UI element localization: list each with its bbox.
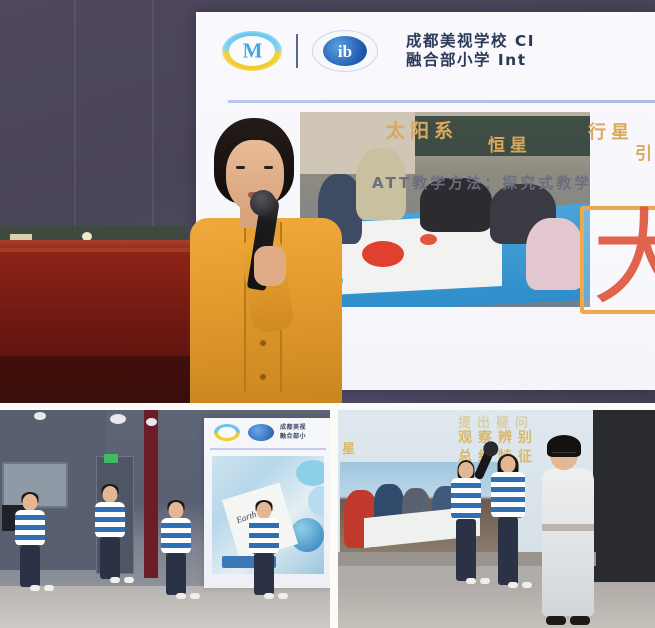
student-head: [257, 502, 272, 519]
bottom-right-photo-students-with-teacher: 提出疑问 观察辨别 总结特征 星: [338, 410, 655, 628]
school-name-line-2: 融合部小学 Int: [406, 51, 535, 70]
student-shoe: [124, 577, 134, 583]
student-shoe: [522, 582, 532, 588]
student-head: [23, 494, 38, 511]
screen-school-name: 成都美视 融合部小: [280, 423, 306, 441]
slide-teaching-method-line: ATT教学方法：探究式教学: [372, 172, 592, 193]
student-head: [459, 462, 474, 479]
student-shoe: [190, 593, 200, 599]
adult-figure-in-robe: [542, 438, 594, 628]
projection-side-word: 星: [342, 438, 361, 457]
poster-blob: [296, 460, 324, 486]
student-trousers: [456, 519, 476, 581]
student-trousers: [166, 553, 186, 595]
slide-keyword-star: 恒星: [488, 131, 532, 156]
main-photo-teacher-presenting: M ib 成都美视学校 CI 融合部小学 Int: [0, 0, 655, 403]
adult-shoe: [546, 616, 566, 625]
student-striped-polo: [15, 510, 45, 546]
slide-keyword-gravity: 引: [635, 139, 655, 164]
student-shoe: [264, 593, 274, 599]
bottom-left-photo-four-students: 成都美视 融合部小 Earth: [0, 410, 330, 628]
student-shoe: [466, 578, 476, 584]
collage-vertical-gutter: [330, 410, 338, 628]
classroom-student: [526, 218, 584, 290]
school-m-logo-icon: [214, 424, 240, 441]
slide-header-divider: [228, 100, 655, 103]
student-shoe: [508, 582, 518, 588]
slide-keyword-planet: 行星: [588, 118, 634, 144]
ceiling-light-icon: [110, 414, 126, 424]
jacket-button: [260, 340, 266, 346]
student-trousers: [20, 545, 40, 587]
student-head: [103, 486, 118, 503]
school-m-logo-letter: M: [222, 39, 282, 64]
ceiling-light-icon: [34, 412, 46, 420]
collage-horizontal-gutter: [0, 403, 655, 410]
screen-school-name-line-1: 成都美视: [280, 423, 306, 432]
slide-keyword-solar-system: 太阳系: [386, 116, 458, 143]
student-shoe: [30, 585, 40, 591]
ib-logo-icon: [248, 424, 274, 441]
speaker-hand: [254, 246, 286, 286]
student-striped-polo: [249, 518, 279, 554]
slide-big-character: 大: [592, 208, 655, 308]
projection-line-observe: 观察辨别: [458, 427, 538, 447]
drawing-planet-circle: [420, 234, 437, 245]
student-shoe: [44, 585, 54, 591]
slide-school-name: 成都美视学校 CI 融合部小学 Int: [406, 32, 535, 70]
stage-floor: [338, 582, 655, 628]
school-name-line-1: 成都美视学校 CI: [406, 32, 535, 51]
speaker-figure: [188, 118, 348, 403]
student-trousers: [100, 537, 120, 579]
school-m-logo-icon: M: [222, 31, 282, 71]
student-shoe: [110, 577, 120, 583]
slide-header: M ib 成都美视学校 CI 融合部小学 Int: [222, 20, 655, 82]
student-trousers: [498, 517, 518, 585]
photo-collage: M ib 成都美视学校 CI 融合部小学 Int: [0, 0, 655, 628]
student-head: [501, 456, 516, 473]
adult-robe: [542, 468, 594, 616]
adult-belt: [542, 524, 594, 531]
student-shoe: [278, 593, 288, 599]
logo-divider: [296, 34, 298, 68]
speaker-eye: [264, 166, 273, 169]
adult-shoe: [570, 616, 590, 625]
student-shoe: [176, 593, 186, 599]
ib-logo-icon: ib: [312, 30, 378, 72]
screen-school-name-line-2: 融合部小: [280, 432, 306, 441]
student-striped-polo: [161, 518, 191, 554]
ib-logo-letter: ib: [313, 42, 377, 62]
poster-blob: [308, 486, 324, 516]
student-striped-polo: [491, 472, 525, 518]
slide-footer-text: · · · ·: [500, 378, 573, 391]
student-head: [169, 502, 184, 519]
eyeglasses-icon: [552, 452, 576, 458]
ceiling-light-icon: [146, 418, 157, 426]
drawing-sun-circle: [362, 241, 404, 267]
stage-curtain: [144, 410, 158, 578]
jacket-button: [260, 374, 266, 380]
student-striped-polo: [95, 502, 125, 538]
student-striped-polo: [451, 478, 481, 520]
student-trousers: [254, 553, 274, 595]
screen-divider: [210, 448, 326, 450]
student-shoe: [480, 578, 490, 584]
exit-sign-icon: [104, 454, 118, 463]
speaker-eye: [236, 166, 245, 169]
